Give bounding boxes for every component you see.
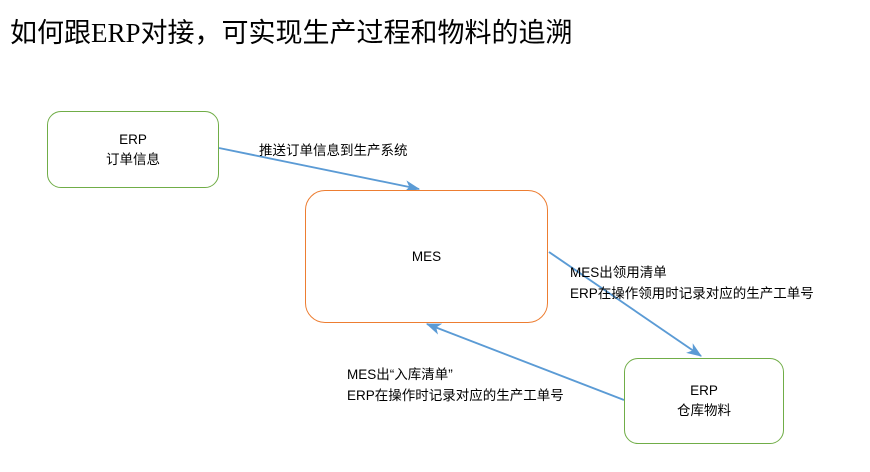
node-erp-order[interactable]: ERP 订单信息 — [47, 111, 219, 188]
node-mes[interactable]: MES — [305, 190, 548, 323]
edge-label-inbound: MES出“入库清单” ERP在操作时记录对应的生产工单号 — [347, 364, 564, 406]
edge-label-push-order-line1: 推送订单信息到生产系统 — [259, 140, 408, 161]
node-erp-warehouse[interactable]: ERP 仓库物料 — [624, 358, 784, 444]
edge-label-picklist-line1: MES出领用清单 — [570, 262, 814, 283]
edge-label-picklist-line2: ERP在操作领用时记录对应的生产工单号 — [570, 283, 814, 304]
node-erp-order-title: ERP — [119, 130, 147, 150]
edge-label-push-order: 推送订单信息到生产系统 — [259, 140, 408, 161]
node-mes-title: MES — [412, 247, 441, 267]
node-erp-order-subtitle: 订单信息 — [106, 150, 160, 170]
slide-canvas: 如何跟ERP对接，可实现生产过程和物料的追溯 ERP 订单信息 MES ERP … — [0, 0, 870, 472]
edge-label-picklist: MES出领用清单 ERP在操作领用时记录对应的生产工单号 — [570, 262, 814, 304]
edge-label-inbound-line2: ERP在操作时记录对应的生产工单号 — [347, 385, 564, 406]
node-erp-warehouse-title: ERP — [690, 381, 718, 401]
node-erp-warehouse-subtitle: 仓库物料 — [677, 401, 731, 421]
edge-label-inbound-line1: MES出“入库清单” — [347, 364, 564, 385]
